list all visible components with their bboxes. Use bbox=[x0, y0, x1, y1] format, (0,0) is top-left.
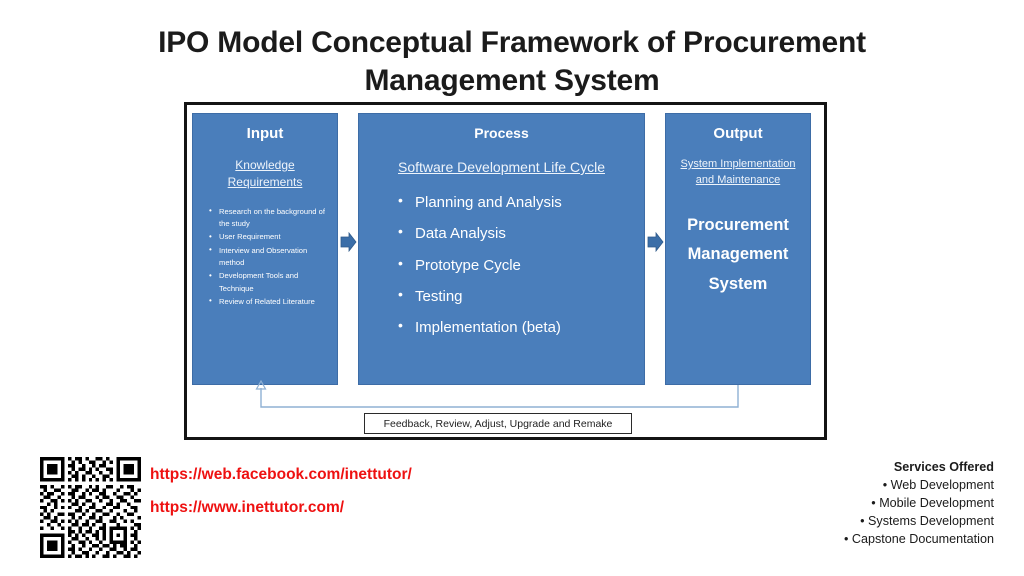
list-item: Planning and Analysis bbox=[415, 193, 644, 212]
input-panel-title: Input bbox=[193, 125, 337, 142]
process-panel: Process Software Development Life Cycle … bbox=[358, 113, 645, 385]
output-result-text: Procurement Management System bbox=[666, 211, 810, 299]
output-panel-subtitle: System Implementation and Maintenance bbox=[666, 157, 810, 189]
output-panel: Output System Implementation and Mainten… bbox=[665, 113, 811, 385]
input-panel-subtitle: Knowledge Requirements bbox=[193, 157, 337, 192]
list-item: Review of Related Literature bbox=[219, 296, 329, 308]
list-item: Data Analysis bbox=[415, 224, 644, 243]
facebook-link[interactable]: https://web.facebook.com/inettutor/ bbox=[150, 466, 412, 484]
list-item: Interview and Observation method bbox=[219, 245, 329, 270]
list-item: Testing bbox=[415, 287, 644, 306]
arrow-right-icon bbox=[647, 232, 664, 252]
arrow-right-icon bbox=[340, 232, 357, 252]
process-bullet-list: Planning and Analysis Data Analysis Prot… bbox=[359, 193, 644, 337]
feedback-label: Feedback, Review, Adjust, Upgrade and Re… bbox=[364, 413, 632, 434]
list-item: Development Tools and Technique bbox=[219, 270, 329, 295]
input-bullet-list: Research on the background of the study … bbox=[193, 206, 337, 308]
input-panel: Input Knowledge Requirements Research on… bbox=[192, 113, 338, 385]
output-result-line-2: Management bbox=[666, 240, 810, 269]
output-result-line-3: System bbox=[666, 270, 810, 299]
list-item: User Requirement bbox=[219, 231, 329, 243]
page-title: IPO Model Conceptual Framework of Procur… bbox=[90, 24, 934, 101]
website-link[interactable]: https://www.inettutor.com/ bbox=[150, 499, 344, 517]
process-panel-title: Process bbox=[359, 125, 644, 141]
services-list: Web Development Mobile Development Syste… bbox=[844, 477, 994, 549]
qr-code-icon bbox=[40, 455, 141, 560]
services-offered-block: Services Offered Web Development Mobile … bbox=[844, 459, 994, 548]
list-item: Systems Development bbox=[844, 513, 994, 531]
output-panel-title: Output bbox=[666, 125, 810, 142]
list-item: Research on the background of the study bbox=[219, 206, 329, 231]
list-item: Mobile Development bbox=[844, 495, 994, 513]
list-item: Implementation (beta) bbox=[415, 318, 644, 337]
output-result-line-1: Procurement bbox=[666, 211, 810, 240]
services-title: Services Offered bbox=[844, 459, 994, 477]
process-panel-subtitle: Software Development Life Cycle bbox=[359, 157, 644, 177]
list-item: Prototype Cycle bbox=[415, 256, 644, 275]
list-item: Capstone Documentation bbox=[844, 531, 994, 549]
list-item: Web Development bbox=[844, 477, 994, 495]
